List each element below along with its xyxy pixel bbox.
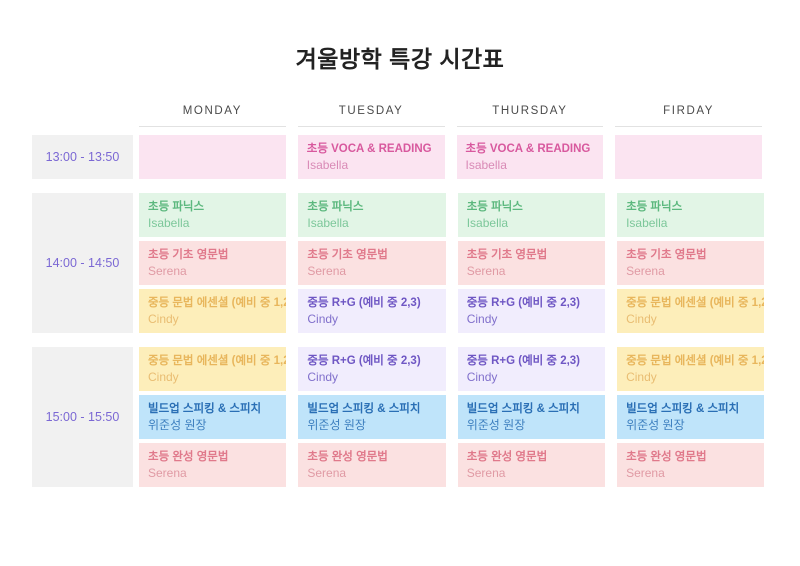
class-teacher: Cindy — [467, 310, 596, 328]
column-header-monday: MONDAY — [139, 105, 286, 127]
column-header-tuesday: TUESDAY — [298, 105, 445, 127]
class-teacher: Cindy — [626, 310, 755, 328]
class-teacher: Cindy — [307, 310, 436, 328]
table-row: 빌드업 스피킹 & 스피치위준성 원장빌드업 스피킹 & 스피치위준성 원장빌드… — [133, 395, 770, 439]
class-title: 초등 완성 영문법 — [467, 450, 596, 464]
class-title: 빌드업 스피킹 & 스피치 — [307, 402, 436, 416]
class-teacher: Cindy — [626, 368, 755, 386]
class-cell[interactable]: 중등 문법 에센셜 (예비 중 1,2)Cindy — [617, 347, 764, 391]
class-teacher: 위준성 원장 — [467, 416, 596, 434]
class-teacher: 위준성 원장 — [307, 416, 436, 434]
class-cell[interactable]: 중등 문법 에센셜 (예비 중 1,2)Cindy — [139, 347, 286, 391]
class-cell[interactable]: 초등 파닉스Isabella — [298, 193, 445, 237]
class-cell[interactable]: 초등 기초 영문법Serena — [458, 241, 605, 285]
class-cell[interactable]: 중등 R+G (예비 중 2,3)Cindy — [458, 347, 605, 391]
class-title: 중등 문법 에센셜 (예비 중 1,2) — [626, 354, 755, 368]
class-title: 빌드업 스피킹 & 스피치 — [467, 402, 596, 416]
class-teacher: Serena — [148, 262, 277, 280]
class-teacher: 위준성 원장 — [148, 416, 277, 434]
column-header-thursday: THURSDAY — [457, 105, 604, 127]
class-teacher: Serena — [626, 464, 755, 482]
time-block: 14:00 - 14:50초등 파닉스Isabella초등 파닉스Isabell… — [32, 193, 768, 333]
class-cell[interactable]: 빌드업 스피킹 & 스피치위준성 원장 — [139, 395, 286, 439]
time-block: 13:00 - 13:50초등 VOCA & READINGIsabella초등… — [32, 135, 768, 179]
table-row: 초등 완성 영문법Serena초등 완성 영문법Serena초등 완성 영문법S… — [133, 443, 770, 487]
class-title: 빌드업 스피킹 & 스피치 — [626, 402, 755, 416]
class-cell[interactable]: 빌드업 스피킹 & 스피치위준성 원장 — [617, 395, 764, 439]
class-title: 초등 파닉스 — [148, 200, 277, 214]
class-title: 중등 R+G (예비 중 2,3) — [467, 354, 596, 368]
class-title: 초등 완성 영문법 — [148, 450, 277, 464]
class-title: 중등 문법 에센셜 (예비 중 1,2) — [148, 296, 277, 310]
column-header-firday: FIRDAY — [615, 105, 762, 127]
class-title: 초등 완성 영문법 — [626, 450, 755, 464]
timetable-header-row: MONDAYTUESDAYTHURSDAYFIRDAY — [32, 105, 768, 127]
class-title: 중등 문법 에센셜 (예비 중 1,2) — [148, 354, 277, 368]
class-title: 빌드업 스피킹 & 스피치 — [148, 402, 277, 416]
class-teacher: Serena — [148, 464, 277, 482]
class-cell[interactable]: 초등 완성 영문법Serena — [458, 443, 605, 487]
class-teacher: Cindy — [307, 368, 436, 386]
class-title: 초등 파닉스 — [626, 200, 755, 214]
class-cell[interactable]: 초등 파닉스Isabella — [617, 193, 764, 237]
class-cell[interactable]: 빌드업 스피킹 & 스피치위준성 원장 — [298, 395, 445, 439]
class-cell[interactable]: 초등 기초 영문법Serena — [139, 241, 286, 285]
class-cell-empty[interactable] — [139, 135, 286, 179]
class-title: 초등 기초 영문법 — [467, 248, 596, 262]
class-teacher: Cindy — [148, 368, 277, 386]
class-teacher: Isabella — [467, 214, 596, 232]
class-teacher: Isabella — [307, 156, 436, 174]
table-row: 초등 VOCA & READINGIsabella초등 VOCA & READI… — [133, 135, 768, 179]
class-title: 중등 문법 에센셜 (예비 중 1,2) — [626, 296, 755, 310]
table-row: 중등 문법 에센셜 (예비 중 1,2)Cindy중등 R+G (예비 중 2,… — [133, 289, 770, 333]
class-cell[interactable]: 초등 파닉스Isabella — [458, 193, 605, 237]
class-cell[interactable]: 초등 기초 영문법Serena — [298, 241, 445, 285]
class-cell[interactable]: 중등 문법 에센셜 (예비 중 1,2)Cindy — [617, 289, 764, 333]
class-title: 중등 R+G (예비 중 2,3) — [307, 354, 436, 368]
table-row: 중등 문법 에센셜 (예비 중 1,2)Cindy중등 R+G (예비 중 2,… — [133, 347, 770, 391]
time-label: 14:00 - 14:50 — [32, 193, 133, 333]
page-title: 겨울방학 특강 시간표 — [0, 40, 800, 74]
class-teacher: Serena — [626, 262, 755, 280]
class-teacher: Isabella — [466, 156, 595, 174]
time-block: 15:00 - 15:50중등 문법 에센셜 (예비 중 1,2)Cindy중등… — [32, 347, 768, 487]
class-teacher: Serena — [307, 464, 436, 482]
class-title: 초등 기초 영문법 — [148, 248, 277, 262]
class-cell[interactable]: 초등 완성 영문법Serena — [617, 443, 764, 487]
class-title: 초등 파닉스 — [467, 200, 596, 214]
class-cell[interactable]: 중등 R+G (예비 중 2,3)Cindy — [458, 289, 605, 333]
class-cell[interactable]: 초등 파닉스Isabella — [139, 193, 286, 237]
class-teacher: 위준성 원장 — [626, 416, 755, 434]
class-title: 초등 완성 영문법 — [307, 450, 436, 464]
class-title: 초등 VOCA & READING — [466, 142, 595, 156]
class-teacher: Serena — [467, 262, 596, 280]
class-cell[interactable]: 초등 기초 영문법Serena — [617, 241, 764, 285]
table-row: 초등 기초 영문법Serena초등 기초 영문법Serena초등 기초 영문법S… — [133, 241, 770, 285]
class-cell-empty[interactable] — [615, 135, 762, 179]
class-teacher: Isabella — [148, 214, 277, 232]
class-cell[interactable]: 초등 VOCA & READINGIsabella — [457, 135, 604, 179]
class-cell[interactable]: 초등 완성 영문법Serena — [298, 443, 445, 487]
time-label: 13:00 - 13:50 — [32, 135, 133, 179]
class-cell[interactable]: 초등 완성 영문법Serena — [139, 443, 286, 487]
class-teacher: Isabella — [626, 214, 755, 232]
table-row: 초등 파닉스Isabella초등 파닉스Isabella초등 파닉스Isabel… — [133, 193, 770, 237]
class-cell[interactable]: 중등 R+G (예비 중 2,3)Cindy — [298, 347, 445, 391]
class-teacher: Cindy — [467, 368, 596, 386]
class-title: 초등 VOCA & READING — [307, 142, 436, 156]
class-cell[interactable]: 중등 R+G (예비 중 2,3)Cindy — [298, 289, 445, 333]
class-title: 초등 기초 영문법 — [307, 248, 436, 262]
class-teacher: Serena — [467, 464, 596, 482]
class-title: 중등 R+G (예비 중 2,3) — [467, 296, 596, 310]
class-title: 중등 R+G (예비 중 2,3) — [307, 296, 436, 310]
class-cell[interactable]: 초등 VOCA & READINGIsabella — [298, 135, 445, 179]
class-title: 초등 기초 영문법 — [626, 248, 755, 262]
time-block-rows: 초등 파닉스Isabella초등 파닉스Isabella초등 파닉스Isabel… — [133, 193, 770, 333]
time-block-rows: 중등 문법 에센셜 (예비 중 1,2)Cindy중등 R+G (예비 중 2,… — [133, 347, 770, 487]
class-cell[interactable]: 중등 문법 에센셜 (예비 중 1,2)Cindy — [139, 289, 286, 333]
class-teacher: Serena — [307, 262, 436, 280]
header-corner-spacer — [32, 105, 133, 127]
time-block-rows: 초등 VOCA & READINGIsabella초등 VOCA & READI… — [133, 135, 768, 179]
timetable: MONDAYTUESDAYTHURSDAYFIRDAY 13:00 - 13:5… — [32, 105, 768, 487]
time-label: 15:00 - 15:50 — [32, 347, 133, 487]
class-title: 초등 파닉스 — [307, 200, 436, 214]
class-teacher: Isabella — [307, 214, 436, 232]
class-teacher: Cindy — [148, 310, 277, 328]
class-cell[interactable]: 빌드업 스피킹 & 스피치위준성 원장 — [458, 395, 605, 439]
timetable-page: 겨울방학 특강 시간표 MONDAYTUESDAYTHURSDAYFIRDAY … — [0, 0, 800, 566]
